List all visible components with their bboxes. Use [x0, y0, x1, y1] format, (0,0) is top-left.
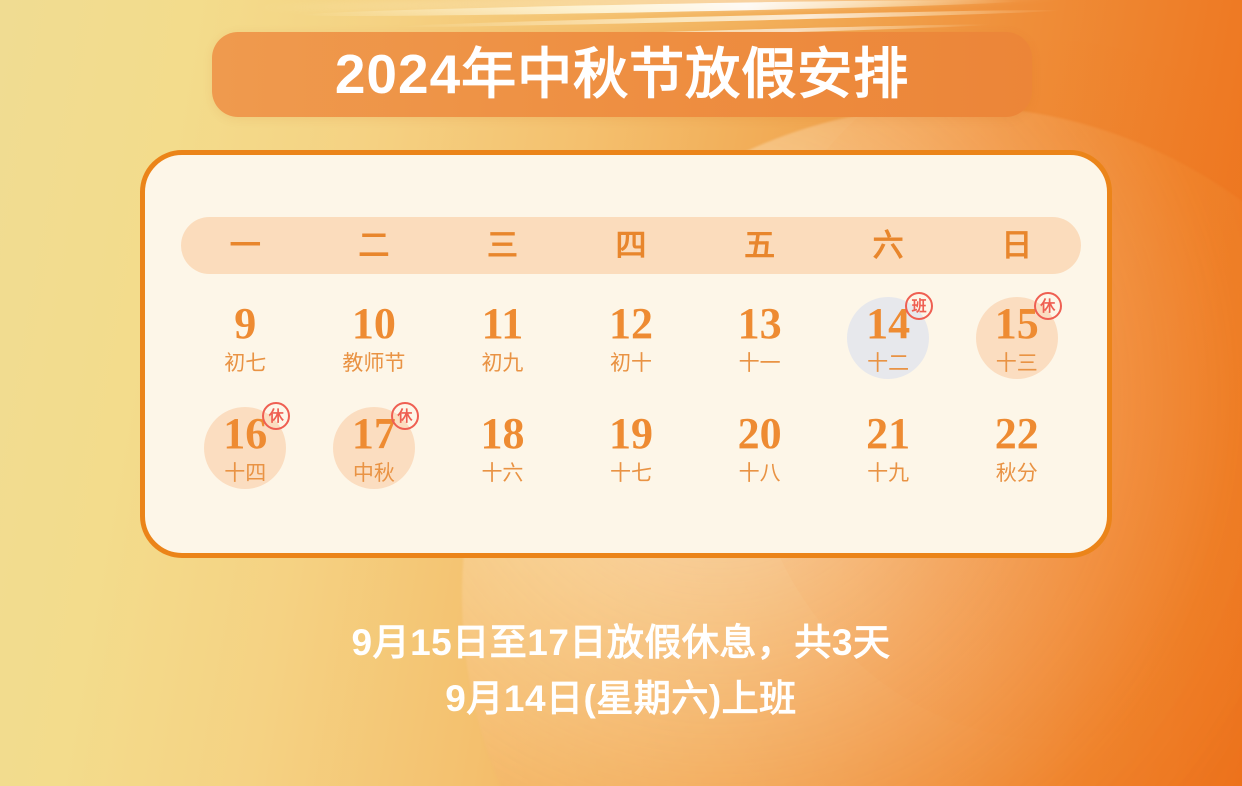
day-badge-icon: 班	[905, 292, 933, 320]
title-banner: 2024年中秋节放假安排	[212, 32, 1032, 117]
day-number: 17	[352, 412, 396, 456]
calendar-week-row: 16 十四 休 17 中秋 休 18 十六	[181, 393, 1081, 503]
day-cell[interactable]: 20 十八	[695, 393, 824, 503]
day-label: 教师节	[342, 353, 405, 374]
day-label: 初九	[481, 353, 523, 374]
day-cell[interactable]: 13 十一	[695, 283, 824, 393]
day-label: 秋分	[996, 463, 1038, 484]
day-cell[interactable]: 11 初九	[438, 283, 567, 393]
day-number: 14	[866, 302, 910, 346]
day-number: 10	[352, 302, 396, 346]
day-badge-icon: 休	[262, 402, 290, 430]
weekday-header-sat: 六	[824, 230, 953, 261]
day-number: 11	[482, 302, 524, 346]
day-label: 十一	[739, 353, 781, 374]
day-number: 18	[480, 412, 524, 456]
day-number: 20	[738, 412, 782, 456]
day-number: 21	[866, 412, 910, 456]
calendar-grid: 9 初七 10 教师节 11 初九 12	[181, 283, 1081, 503]
weekday-header-mon: 一	[181, 230, 310, 261]
day-cell[interactable]: 19 十七	[567, 393, 696, 503]
day-label: 初七	[224, 353, 266, 374]
day-label: 十七	[610, 463, 652, 484]
day-number: 19	[609, 412, 653, 456]
day-badge-icon: 休	[1034, 292, 1062, 320]
footer-notes: 9月15日至17日放假休息，共3天 9月14日(星期六)上班	[0, 615, 1242, 727]
day-badge-icon: 休	[391, 402, 419, 430]
day-cell[interactable]: 12 初十	[567, 283, 696, 393]
day-label: 十九	[867, 463, 909, 484]
day-number: 16	[223, 412, 267, 456]
holiday-notice-poster: 2024年中秋节放假安排 一 二 三 四 五 六 日 9 初七 10	[0, 0, 1242, 786]
day-cell[interactable]: 18 十六	[438, 393, 567, 503]
calendar-card: 一 二 三 四 五 六 日 9 初七 10 教师节	[140, 150, 1112, 558]
day-label: 十四	[224, 463, 266, 484]
day-label: 十六	[481, 463, 523, 484]
makeup-workday-note: 9月14日(星期六)上班	[0, 671, 1242, 727]
light-streak-icon	[300, 0, 1020, 19]
day-number: 12	[609, 302, 653, 346]
weekday-header-thu: 四	[567, 230, 696, 261]
day-cell[interactable]: 17 中秋 休	[310, 393, 439, 503]
weekday-header-sun: 日	[952, 230, 1081, 261]
day-cell[interactable]: 22 秋分	[952, 393, 1081, 503]
day-label: 初十	[610, 353, 652, 374]
weekday-header-wed: 三	[438, 230, 567, 261]
day-label: 十三	[996, 353, 1038, 374]
light-streak-icon	[250, 0, 1070, 16]
day-cell[interactable]: 21 十九	[824, 393, 953, 503]
day-label: 中秋	[353, 463, 395, 484]
weekday-header-fri: 五	[695, 230, 824, 261]
day-cell[interactable]: 14 十二 班	[824, 283, 953, 393]
day-label: 十八	[739, 463, 781, 484]
day-number: 13	[738, 302, 782, 346]
page-title: 2024年中秋节放假安排	[335, 47, 909, 102]
weekday-header-tue: 二	[310, 230, 439, 261]
day-number: 15	[995, 302, 1039, 346]
day-number: 9	[234, 302, 256, 346]
day-cell[interactable]: 9 初七	[181, 283, 310, 393]
day-cell[interactable]: 10 教师节	[310, 283, 439, 393]
day-label: 十二	[867, 353, 909, 374]
weekday-header-bar: 一 二 三 四 五 六 日	[181, 217, 1081, 274]
day-cell[interactable]: 16 十四 休	[181, 393, 310, 503]
day-number: 22	[995, 412, 1039, 456]
light-streak-icon	[400, 8, 1060, 29]
holiday-range-note: 9月15日至17日放假休息，共3天	[0, 615, 1242, 671]
day-cell[interactable]: 15 十三 休	[952, 283, 1081, 393]
calendar-week-row: 9 初七 10 教师节 11 初九 12	[181, 283, 1081, 393]
